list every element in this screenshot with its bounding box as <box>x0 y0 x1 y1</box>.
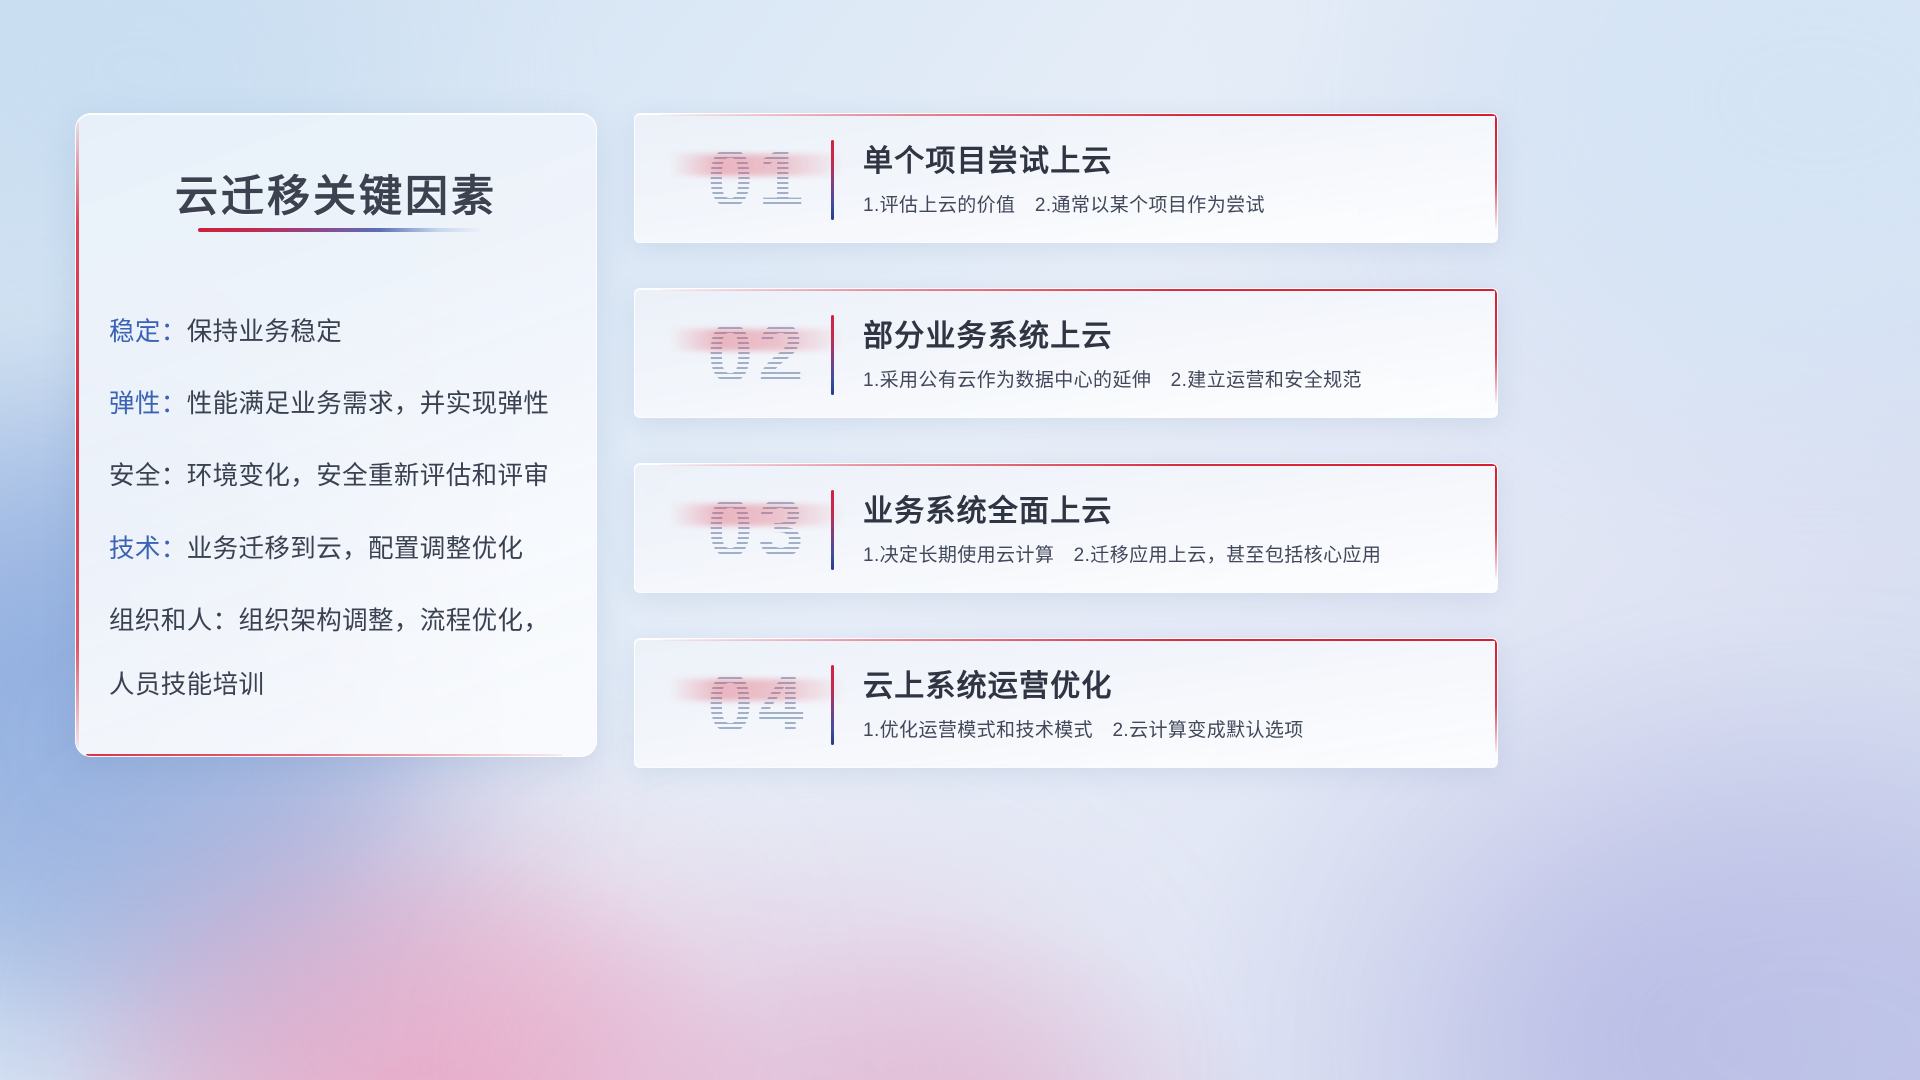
background-blob-bottom-right <box>1460 780 1920 1080</box>
stage-number-watermark: 01 <box>663 132 853 226</box>
list-item-text: 保持业务稳定 <box>187 318 342 346</box>
background-blob-bottom-center <box>560 900 1080 1080</box>
stage-card-list: 01 单个项目尝试上云 1.评估上云的价值 2.通常以某个项目作为尝试 02 部… <box>634 113 1496 768</box>
list-item-text: 组织架构调整，流程优化， <box>239 607 550 635</box>
card-title: 业务系统全面上云 <box>863 486 1113 530</box>
list-item: 技术：业务迁移到云，配置调整优化 <box>109 531 578 567</box>
panel-bottom-accent-bar <box>86 754 562 756</box>
card-divider-bar <box>831 140 834 220</box>
card-description: 1.优化运营模式和技术模式 2.云计算变成默认选项 <box>863 715 1304 742</box>
stage-number-watermark: 04 <box>663 657 853 751</box>
list-item-key: 技术： <box>109 535 187 563</box>
card-top-accent-bar <box>661 114 1497 116</box>
list-item-key: 弹性： <box>109 390 187 418</box>
list-item-key: 安全： <box>109 462 187 490</box>
list-item-text: 环境变化，安全重新评估和评审 <box>187 462 550 490</box>
card-right-accent-bar <box>1495 114 1497 228</box>
list-item: 稳定：保持业务稳定 <box>109 314 578 350</box>
stage-card[interactable]: 03 业务系统全面上云 1.决定长期使用云计算 2.迁移应用上云，甚至包括核心应… <box>634 463 1498 593</box>
stage-card[interactable]: 01 单个项目尝试上云 1.评估上云的价值 2.通常以某个项目作为尝试 <box>634 113 1498 243</box>
list-item-text: 性能满足业务需求，并实现弹性 <box>187 390 550 418</box>
card-description: 1.采用公有云作为数据中心的延伸 2.建立运营和安全规范 <box>863 365 1362 392</box>
card-divider-bar <box>831 315 834 395</box>
list-item: 组织和人：组织架构调整，流程优化， <box>109 603 578 639</box>
key-factors-panel: 云迁移关键因素 稳定：保持业务稳定 弹性：性能满足业务需求，并实现弹性 安全：环… <box>75 113 597 757</box>
title-underline <box>198 228 482 232</box>
card-description: 1.评估上云的价值 2.通常以某个项目作为尝试 <box>863 190 1265 217</box>
key-factors-list: 稳定：保持业务稳定 弹性：性能满足业务需求，并实现弹性 安全：环境变化，安全重新… <box>109 314 578 703</box>
card-title: 单个项目尝试上云 <box>863 136 1113 180</box>
background-blob-bottom-left <box>120 830 680 1080</box>
card-right-accent-bar <box>1495 639 1497 753</box>
card-description: 1.决定长期使用云计算 2.迁移应用上云，甚至包括核心应用 <box>863 540 1381 567</box>
card-top-accent-bar <box>661 639 1497 641</box>
card-divider-bar <box>831 490 834 570</box>
list-item-key: 组织和人： <box>109 607 239 635</box>
slide-canvas: 云迁移关键因素 稳定：保持业务稳定 弹性：性能满足业务需求，并实现弹性 安全：环… <box>0 0 1920 1080</box>
card-right-accent-bar <box>1495 289 1497 403</box>
card-title: 部分业务系统上云 <box>863 311 1113 355</box>
card-top-accent-bar <box>661 464 1497 466</box>
stage-number-watermark: 03 <box>663 482 853 576</box>
stage-card[interactable]: 04 云上系统运营优化 1.优化运营模式和技术模式 2.云计算变成默认选项 <box>634 638 1498 768</box>
stage-number-watermark: 02 <box>663 307 853 401</box>
list-item: 安全：环境变化，安全重新评估和评审 <box>109 458 578 494</box>
card-top-accent-bar <box>661 289 1497 291</box>
page-title: 云迁移关键因素 <box>76 162 596 224</box>
stage-card[interactable]: 02 部分业务系统上云 1.采用公有云作为数据中心的延伸 2.建立运营和安全规范 <box>634 288 1498 418</box>
background-blob-top-right <box>1500 0 1920 360</box>
card-title: 云上系统运营优化 <box>863 661 1113 705</box>
list-item-key: 稳定： <box>109 318 187 346</box>
list-item-continuation: 人员技能培训 <box>109 667 578 703</box>
card-right-accent-bar <box>1495 464 1497 578</box>
list-item-text: 人员技能培训 <box>109 671 264 699</box>
list-item: 弹性：性能满足业务需求，并实现弹性 <box>109 386 578 422</box>
list-item-text: 业务迁移到云，配置调整优化 <box>187 535 524 563</box>
card-divider-bar <box>831 665 834 745</box>
